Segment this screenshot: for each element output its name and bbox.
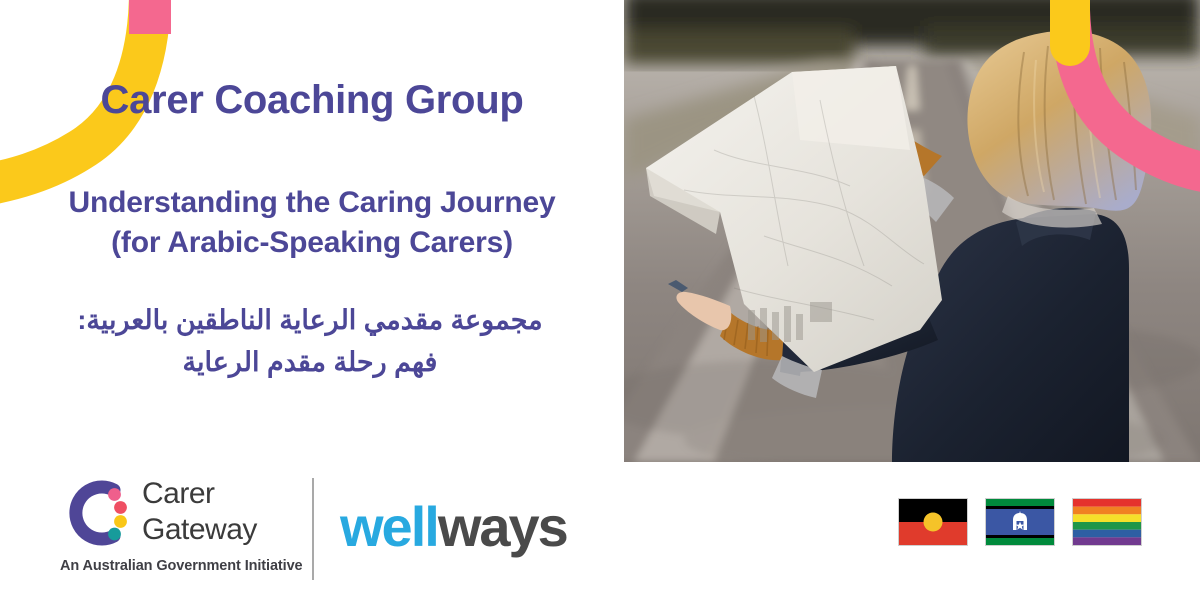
dot-teal [108, 528, 121, 541]
carer-gateway-word-1: Carer [142, 476, 302, 512]
subtitle-line-2: (for Arabic-Speaking Carers) [6, 223, 618, 263]
hero-photo-illustration [624, 0, 1200, 462]
carer-gateway-word-2: Gateway [142, 512, 302, 548]
arabic-line-1: مجموعة مقدمي الرعاية الناطقين بالعربية: [4, 300, 616, 342]
logo-divider [312, 478, 314, 580]
arabic-line-2: فهم رحلة مقدم الرعاية [4, 342, 616, 384]
carer-gateway-logo: Carer Gateway An Australian Government I… [58, 474, 298, 586]
wellways-logo: wellways [340, 496, 620, 558]
aboriginal-flag [898, 498, 968, 546]
aboriginal-flag-graphic [899, 499, 967, 545]
arabic-subtitle: مجموعة مقدمي الرعاية الناطقين بالعربية: … [4, 300, 616, 384]
flags-group [898, 498, 1148, 552]
wellways-word-well: well [340, 495, 438, 558]
carer-gateway-tagline: An Australian Government Initiative [60, 558, 300, 574]
text-column: Carer Coaching Group Understanding the C… [0, 0, 624, 462]
carer-gateway-wordmark: Carer Gateway [142, 476, 302, 548]
event-banner: Carer Coaching Group Understanding the C… [0, 0, 1200, 600]
subtitle-line-1: Understanding the Caring Journey [6, 183, 618, 223]
pride-rainbow-flag [1072, 498, 1142, 546]
footer-bar: Carer Gateway An Australian Government I… [0, 462, 1200, 600]
hero-photo [624, 0, 1200, 462]
page-title: Carer Coaching Group [0, 78, 624, 122]
dot-yellow [114, 515, 127, 528]
torres-strait-islander-flag [985, 498, 1055, 546]
event-subtitle: Understanding the Caring Journey (for Ar… [6, 183, 618, 263]
pride-rainbow-flag-graphic [1073, 499, 1141, 545]
carer-gateway-c-mark [58, 476, 132, 550]
wellways-word-ways: ways [438, 495, 567, 558]
hair [967, 31, 1151, 211]
dot-pink [108, 488, 121, 501]
torres-strait-islander-flag-graphic [986, 499, 1054, 545]
dot-coral [114, 501, 127, 514]
